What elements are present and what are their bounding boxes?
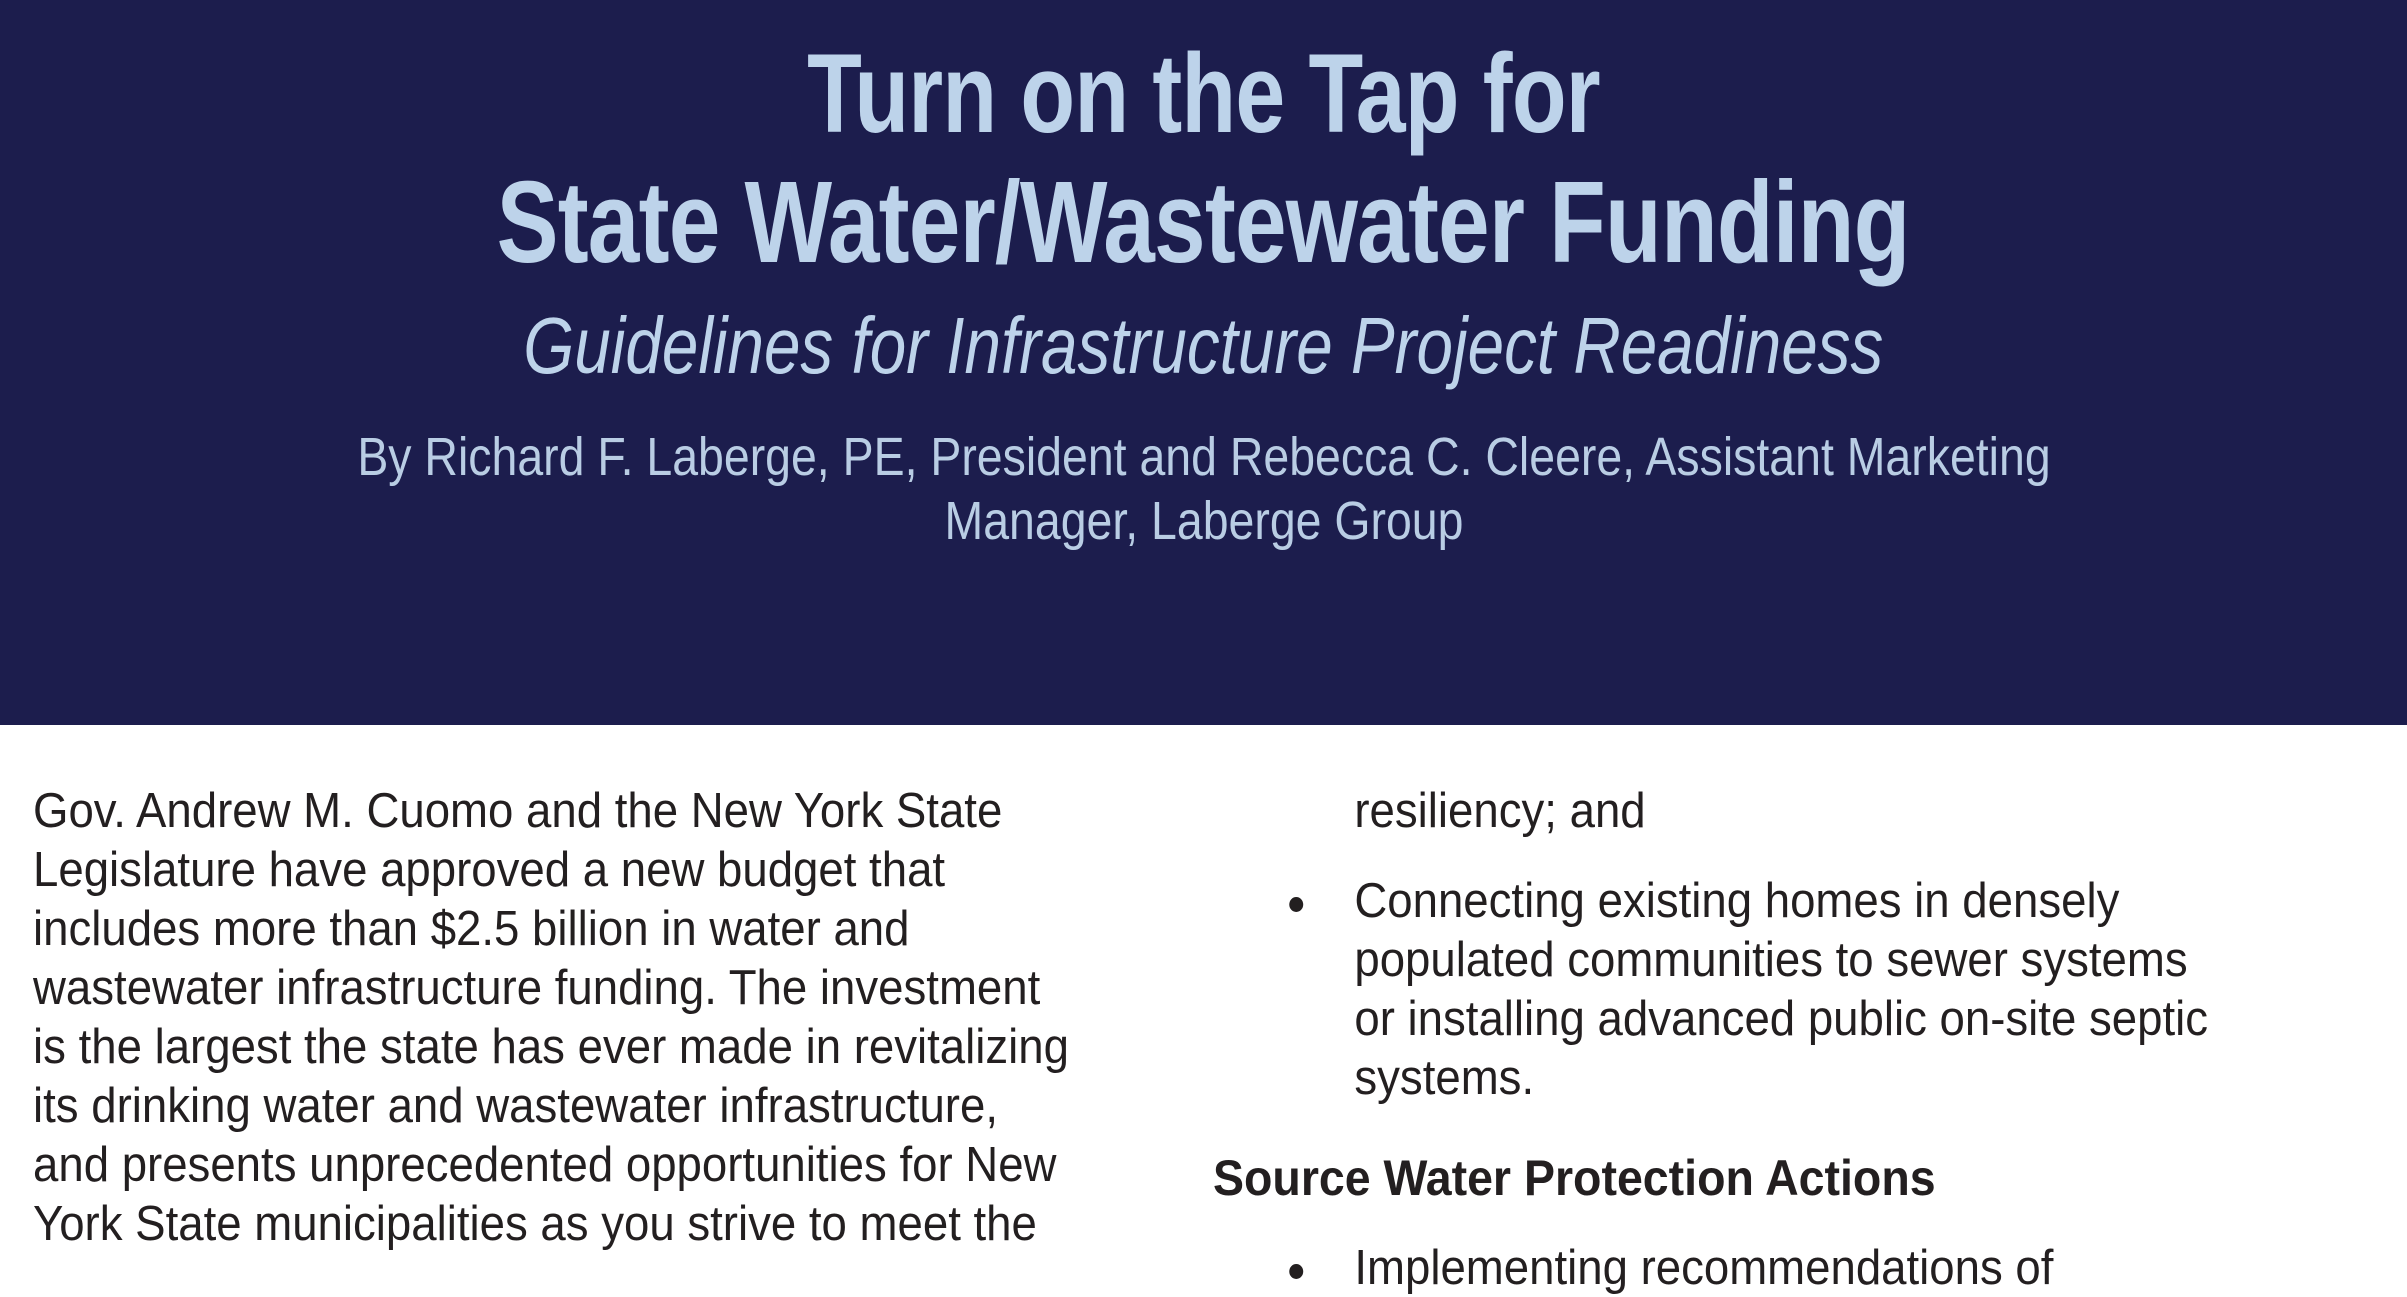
bullet-dot-icon bbox=[1289, 897, 1303, 912]
article-header-banner: Turn on the Tap for State Water/Wastewat… bbox=[0, 0, 2407, 725]
section-heading-source-water-protection-actions: Source Water Protection Actions bbox=[1213, 1149, 2217, 1208]
right-column: resiliency; and Connecting existing home… bbox=[1213, 725, 2293, 1297]
article-body: Gov. Andrew M. Cuomo and the New York St… bbox=[0, 725, 2407, 1297]
left-column: Gov. Andrew M. Cuomo and the New York St… bbox=[33, 725, 1153, 1254]
bullet-dot-icon bbox=[1289, 1264, 1303, 1279]
article-title-line-1: Turn on the Tap for bbox=[807, 38, 1600, 150]
list-item: Connecting existing homes in densely pop… bbox=[1213, 872, 2217, 1108]
list-item-text: Connecting existing homes in densely pop… bbox=[1354, 874, 2208, 1105]
list-item-text: Implementing recommendations of communit… bbox=[1354, 1241, 2053, 1297]
bullet-list-bottom: Implementing recommendations of communit… bbox=[1213, 1239, 2293, 1297]
continued-text-line: resiliency; and bbox=[1213, 725, 2217, 841]
list-item: Implementing recommendations of communit… bbox=[1213, 1239, 2217, 1297]
article-subtitle: Guidelines for Infrastructure Project Re… bbox=[523, 306, 1883, 386]
bullet-list-top: Connecting existing homes in densely pop… bbox=[1213, 872, 2293, 1108]
document-page: Turn on the Tap for State Water/Wastewat… bbox=[0, 0, 2407, 1297]
article-byline: By Richard F. Laberge, PE, President and… bbox=[344, 426, 2064, 553]
intro-paragraph: Gov. Andrew M. Cuomo and the New York St… bbox=[33, 725, 1075, 1254]
article-title-line-2: State Water/Wastewater Funding bbox=[497, 164, 1910, 280]
